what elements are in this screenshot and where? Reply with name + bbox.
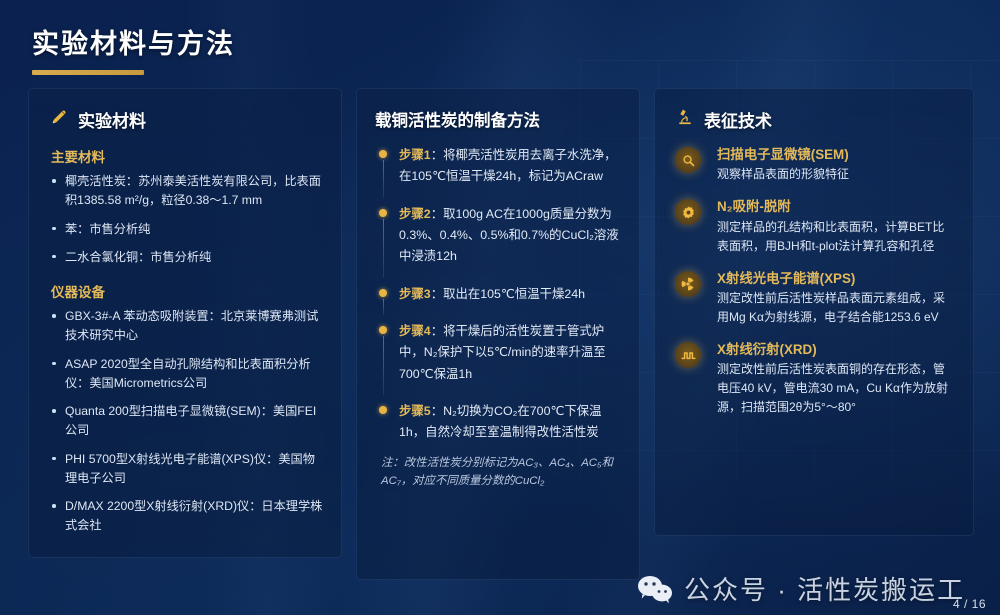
subhead-main-materials: 主要材料: [51, 146, 323, 166]
characterization-list: 扫描电子显微镜(SEM) 观察样品表面的形貌特征 N₂吸附-脱附 测定样品的孔结…: [675, 146, 955, 417]
gear-icon: [675, 199, 701, 225]
step-connector-line: [383, 219, 385, 278]
step-item: 步骤1：将椰壳活性炭用去离子水洗净，在105℃恒温干燥24h，标记为ACraw: [377, 145, 621, 188]
list-item: GBX-3#-A 苯动态吸附装置：北京莱博赛弗测试技术研究中心: [49, 307, 323, 346]
step-item: 步骤3：取出在105℃恒温干燥24h: [377, 284, 621, 305]
tech-item: X射线光电子能谱(XPS) 测定改性前后活性炭样品表面元素组成，采用Mg Kα为…: [675, 270, 955, 327]
tech-desc: 测定改性前后活性炭样品表面元素组成，采用Mg Kα为射线源，电子结合能1253.…: [717, 289, 955, 327]
title-underline: [32, 70, 144, 75]
panel-preparation: 载铜活性炭的制备方法 步骤1：将椰壳活性炭用去离子水洗净，在105℃恒温干燥24…: [356, 88, 640, 580]
tech-desc: 测定改性前后活性炭表面铜的存在形态，管电压40 kV，管电流30 mA，Cu K…: [717, 360, 955, 417]
wechat-icon: [636, 574, 674, 604]
list-item: Quanta 200型扫描电子显微镜(SEM)：美国FEI公司: [49, 402, 323, 441]
page-number: 4 / 16: [953, 597, 986, 611]
tech-item: N₂吸附-脱附 测定样品的孔结构和比表面积，计算BET比表面积，用BJH和t-p…: [675, 198, 955, 255]
preparation-note: 注：改性活性炭分别标记为AC₃、AC₄、AC₅和AC₇，对应不同质量分数的CuC…: [381, 454, 621, 491]
step-body: ：将椰壳活性炭用去离子水洗净，在105℃恒温干燥24h，标记为ACraw: [399, 148, 617, 183]
magnifier-icon: [675, 147, 701, 173]
panel-characterization: 表征技术 扫描电子显微镜(SEM) 观察样品表面的形貌特征: [654, 88, 974, 536]
panel-characterization-title: 表征技术: [704, 107, 772, 132]
step-dot-icon: [379, 150, 387, 158]
slide-title-block: 实验材料与方法: [32, 22, 235, 75]
list-item: 二水合氯化铜：市售分析纯: [49, 248, 323, 267]
panel-characterization-body: 扫描电子显微镜(SEM) 观察样品表面的形貌特征 N₂吸附-脱附 测定样品的孔结…: [655, 146, 973, 417]
tech-desc: 测定样品的孔结构和比表面积，计算BET比表面积，用BJH和t-plot法计算孔容…: [717, 218, 955, 256]
step-text: 步骤3：取出在105℃恒温干燥24h: [399, 284, 621, 305]
step-text: 步骤5：N₂切换为CO₂在700℃下保温1h，自然冷却至室温制得改性活性炭: [399, 401, 621, 444]
step-body: ：取100g AC在1000g质量分数为0.3%、0.4%、0.5%和0.7%的…: [399, 207, 619, 264]
steps-timeline: 步骤1：将椰壳活性炭用去离子水洗净，在105℃恒温干燥24h，标记为ACraw …: [377, 145, 621, 444]
step-connector-line: [383, 299, 385, 315]
list-item: D/MAX 2200型X射线衍射(XRD)仪：日本理学株式会社: [49, 497, 323, 536]
tech-title: 扫描电子显微镜(SEM): [717, 146, 955, 163]
tech-desc: 观察样品表面的形貌特征: [717, 165, 955, 184]
list-item: PHI 5700型X射线光电子能谱(XPS)仪：美国物理电子公司: [49, 450, 323, 489]
wechat-watermark: 公众号 · 活性炭搬运工: [636, 570, 965, 607]
list-item: 苯：市售分析纯: [49, 220, 323, 239]
panel-materials-body: 主要材料 椰壳活性炭：苏州泰美活性炭有限公司，比表面积1385.58 m²/g，…: [29, 146, 341, 536]
step-dot-icon: [379, 326, 387, 334]
step-label: 步骤4: [399, 324, 431, 338]
tech-title: X射线衍射(XRD): [717, 341, 955, 358]
tech-title: X射线光电子能谱(XPS): [717, 270, 955, 287]
step-body: ：将干燥后的活性炭置于管式炉中，N₂保护下以5℃/min的速率升温至700℃保温…: [399, 324, 606, 381]
subhead-instruments: 仪器设备: [51, 281, 323, 301]
instruments-list: GBX-3#-A 苯动态吸附装置：北京莱博赛弗测试技术研究中心 ASAP 202…: [49, 307, 323, 536]
step-connector-line: [383, 160, 385, 198]
panel-preparation-body: 步骤1：将椰壳活性炭用去离子水洗净，在105℃恒温干燥24h，标记为ACraw …: [357, 145, 639, 490]
tech-item: X射线衍射(XRD) 测定改性前后活性炭表面铜的存在形态，管电压40 kV，管电…: [675, 341, 955, 417]
step-item: 步骤5：N₂切换为CO₂在700℃下保温1h，自然冷却至室温制得改性活性炭: [377, 401, 621, 444]
step-connector-line: [383, 336, 385, 395]
step-dot-icon: [379, 406, 387, 414]
microscope-icon: [675, 107, 695, 132]
step-body: ：取出在105℃恒温干燥24h: [431, 287, 585, 301]
list-item: ASAP 2020型全自动孔隙结构和比表面积分析仪：美国Micrometrics…: [49, 355, 323, 394]
list-item: 椰壳活性炭：苏州泰美活性炭有限公司，比表面积1385.58 m²/g，粒径0.3…: [49, 172, 323, 211]
step-label: 步骤2: [399, 207, 431, 221]
panel-characterization-header: 表征技术: [655, 89, 973, 132]
watermark-text: 公众号 · 活性炭搬运工: [684, 570, 965, 607]
step-text: 步骤1：将椰壳活性炭用去离子水洗净，在105℃恒温干燥24h，标记为ACraw: [399, 145, 621, 188]
step-item: 步骤2：取100g AC在1000g质量分数为0.3%、0.4%、0.5%和0.…: [377, 204, 621, 268]
step-text: 步骤2：取100g AC在1000g质量分数为0.3%、0.4%、0.5%和0.…: [399, 204, 621, 268]
step-label: 步骤5: [399, 404, 431, 418]
pencil-icon: [49, 107, 69, 132]
panel-preparation-header: 载铜活性炭的制备方法: [357, 89, 639, 131]
step-label: 步骤1: [399, 148, 431, 162]
main-materials-list: 椰壳活性炭：苏州泰美活性炭有限公司，比表面积1385.58 m²/g，粒径0.3…: [49, 172, 323, 267]
waveform-icon: [675, 342, 701, 368]
step-dot-icon: [379, 289, 387, 297]
panel-materials-header: 实验材料: [29, 89, 341, 132]
page-title: 实验材料与方法: [32, 22, 235, 61]
radiation-icon: [675, 271, 701, 297]
tech-title: N₂吸附-脱附: [717, 198, 955, 215]
tech-item: 扫描电子显微镜(SEM) 观察样品表面的形貌特征: [675, 146, 955, 184]
step-text: 步骤4：将干燥后的活性炭置于管式炉中，N₂保护下以5℃/min的速率升温至700…: [399, 321, 621, 385]
step-dot-icon: [379, 209, 387, 217]
panel-materials: 实验材料 主要材料 椰壳活性炭：苏州泰美活性炭有限公司，比表面积1385.58 …: [28, 88, 342, 558]
panel-preparation-title: 载铜活性炭的制备方法: [375, 107, 540, 131]
panel-materials-title: 实验材料: [78, 107, 146, 132]
step-item: 步骤4：将干燥后的活性炭置于管式炉中，N₂保护下以5℃/min的速率升温至700…: [377, 321, 621, 385]
step-label: 步骤3: [399, 287, 431, 301]
